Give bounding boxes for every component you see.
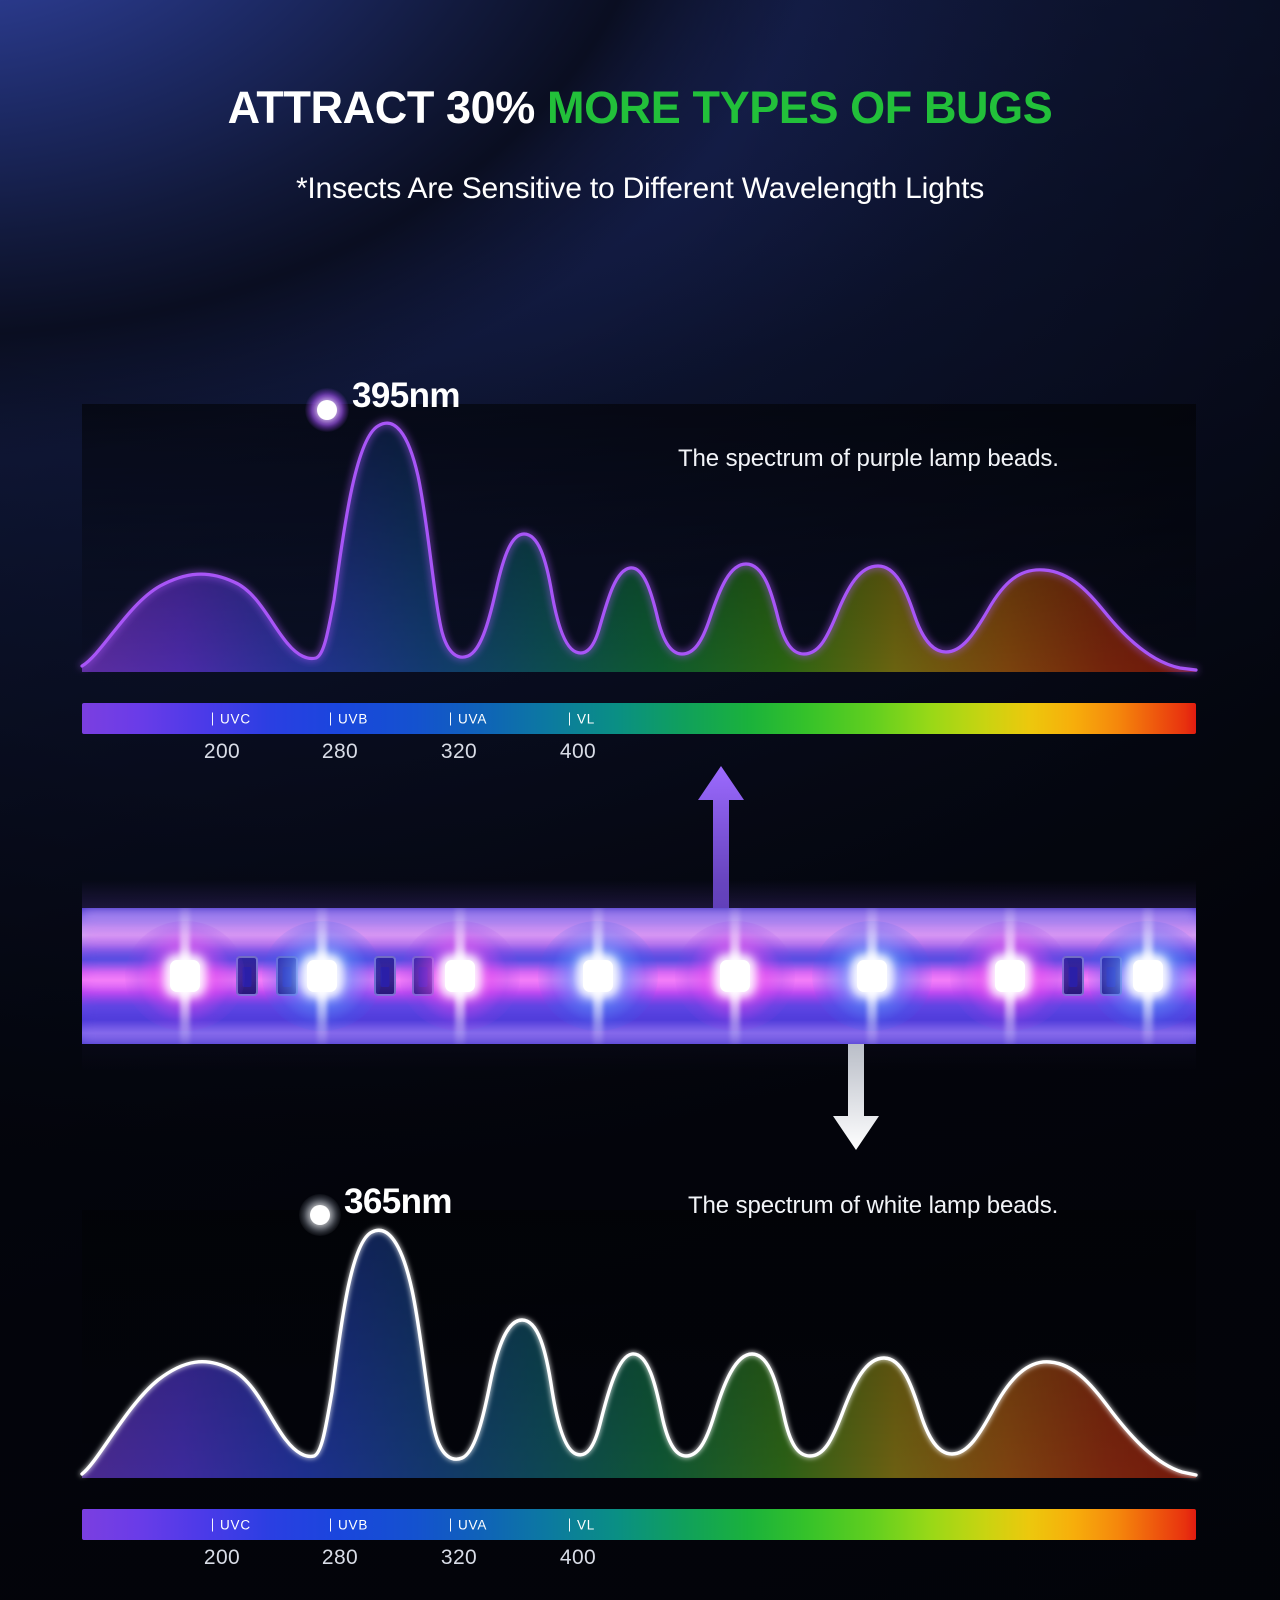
band-tick-icon <box>569 712 570 725</box>
peak-marker-dot-white <box>310 1205 330 1225</box>
tick-number-280: 280 <box>322 740 358 764</box>
led-strip-photo <box>82 908 1196 1044</box>
headline-white-part: ATTRACT 30% <box>228 82 547 133</box>
led-body <box>995 960 1025 992</box>
tick-number-280: 280 <box>322 1546 358 1570</box>
led-bead-purple <box>715 954 755 998</box>
band-tick-icon <box>330 1518 331 1531</box>
spectrum-chart-white: 365nm UVC UVB UVA VL 200 280 320 400 <box>82 1210 1196 1540</box>
page-subheadline: *Insects Are Sensitive to Different Wave… <box>0 172 1280 206</box>
led-bead-purple <box>990 954 1030 998</box>
led-body <box>445 960 475 992</box>
peak-marker-dot-purple <box>317 400 337 420</box>
up-arrow-shape <box>698 766 744 908</box>
peak-label-365nm: 365nm <box>344 1182 452 1222</box>
band-label-text: UVC <box>220 1517 251 1532</box>
down-arrow-shape <box>833 1044 879 1150</box>
tick-number-200: 200 <box>204 740 240 764</box>
band-label-text: VL <box>577 711 595 726</box>
band-tick-icon <box>212 1518 213 1531</box>
band-label-uva-white: UVA <box>450 1517 487 1532</box>
headline-green-part: MORE TYPES OF BUGS <box>547 82 1052 133</box>
led-body <box>1133 960 1163 992</box>
tick-numbers-purple: 200 280 320 400 <box>82 740 1196 770</box>
band-label-text: UVA <box>458 711 487 726</box>
band-tick-icon <box>330 712 331 725</box>
band-label-text: UVB <box>338 1517 368 1532</box>
led-body <box>720 960 750 992</box>
peak-label-395nm: 395nm <box>352 376 460 416</box>
band-label-text: UVC <box>220 711 251 726</box>
strip-band-top <box>82 908 1196 922</box>
band-label-uvb-purple: UVB <box>330 711 368 726</box>
spectrum-bar-purple: UVC UVB UVA VL <box>82 703 1196 734</box>
white-spectrum-curve-area <box>82 1210 1196 1478</box>
led-bead-white <box>302 954 342 998</box>
led-body <box>307 960 337 992</box>
band-label-vl-purple: VL <box>569 711 595 726</box>
tick-number-400: 400 <box>560 1546 596 1570</box>
led-body <box>583 960 613 992</box>
band-label-uvc-white: UVC <box>212 1517 251 1532</box>
band-label-text: UVB <box>338 711 368 726</box>
fill-bot-fade <box>82 1210 1196 1478</box>
tick-numbers-white: 200 280 320 400 <box>82 1546 1196 1576</box>
band-tick-icon <box>212 712 213 725</box>
led-bead-purple <box>440 954 480 998</box>
strip-band-bottom <box>82 1028 1196 1044</box>
band-label-uvc-purple: UVC <box>212 711 251 726</box>
spectrum-bar-white: UVC UVB UVA VL <box>82 1509 1196 1540</box>
purple-up-arrow <box>698 766 744 908</box>
led-bead-white <box>1128 954 1168 998</box>
band-tick-icon <box>450 1518 451 1531</box>
band-label-uva-purple: UVA <box>450 711 487 726</box>
led-body <box>170 960 200 992</box>
band-label-text: VL <box>577 1517 595 1532</box>
page-headline: ATTRACT 30% MORE TYPES OF BUGS <box>0 84 1280 131</box>
band-tick-icon <box>450 712 451 725</box>
band-label-text: UVA <box>458 1517 487 1532</box>
led-body <box>857 960 887 992</box>
band-label-vl-white: VL <box>569 1517 595 1532</box>
led-bead-white <box>852 954 892 998</box>
tick-number-400: 400 <box>560 740 596 764</box>
white-down-arrow <box>833 1044 879 1150</box>
tick-number-320: 320 <box>441 740 477 764</box>
led-bead-white <box>578 954 618 998</box>
band-tick-icon <box>569 1518 570 1531</box>
tick-number-320: 320 <box>441 1546 477 1570</box>
tick-number-200: 200 <box>204 1546 240 1570</box>
caption-purple-lamp-beads: The spectrum of purple lamp beads. <box>678 445 1059 473</box>
band-label-uvb-white: UVB <box>330 1517 368 1532</box>
led-bead-purple <box>165 954 205 998</box>
caption-white-lamp-beads: The spectrum of white lamp beads. <box>688 1192 1058 1220</box>
